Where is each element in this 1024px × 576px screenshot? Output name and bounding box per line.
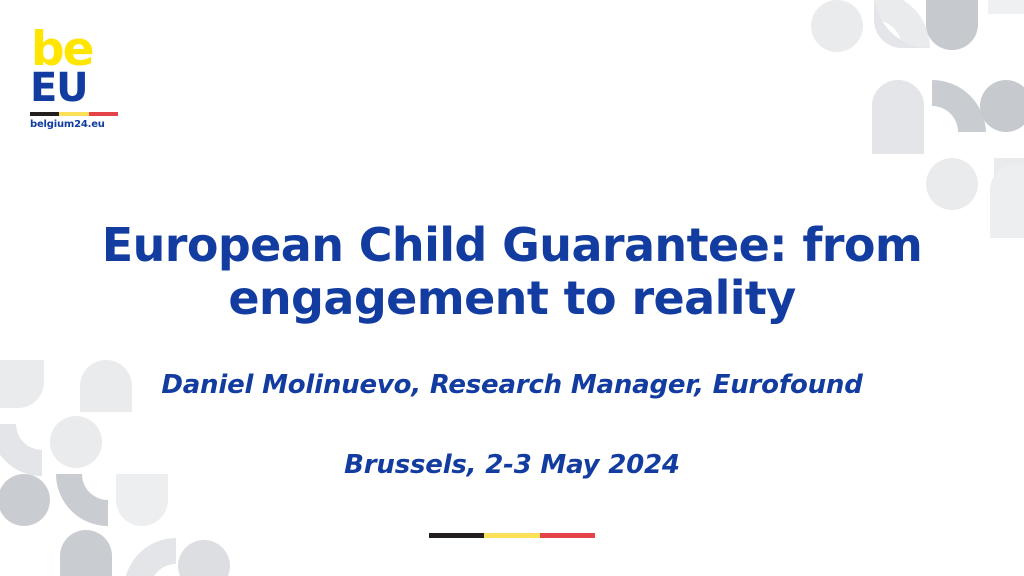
flag-stripe-black [30,112,59,116]
presenter-line: Daniel Molinuevo, Research Manager, Euro… [40,370,984,401]
slide-content: European Child Guarantee: from engagemen… [0,0,1024,576]
footer-belgian-flag-bar [429,533,595,538]
footer-flag-stripe-black [429,533,484,538]
footer-flag-stripe-red [540,533,595,538]
logo-eu-text: EU [30,69,126,107]
footer-flag-stripe-yellow [484,533,539,538]
presentation-slide: be EU belgium24.eu European Child Guaran… [0,0,1024,576]
flag-stripe-yellow [59,112,88,116]
slide-title: European Child Guarantee: from engagemen… [40,219,984,326]
logo-url-text: belgium24.eu [30,119,126,130]
belgian-presidency-logo: be EU belgium24.eu [30,28,126,130]
flag-stripe-red [89,112,118,116]
logo-belgian-flag-bar [30,112,118,116]
event-info-line: Brussels, 2-3 May 2024 [40,450,984,481]
